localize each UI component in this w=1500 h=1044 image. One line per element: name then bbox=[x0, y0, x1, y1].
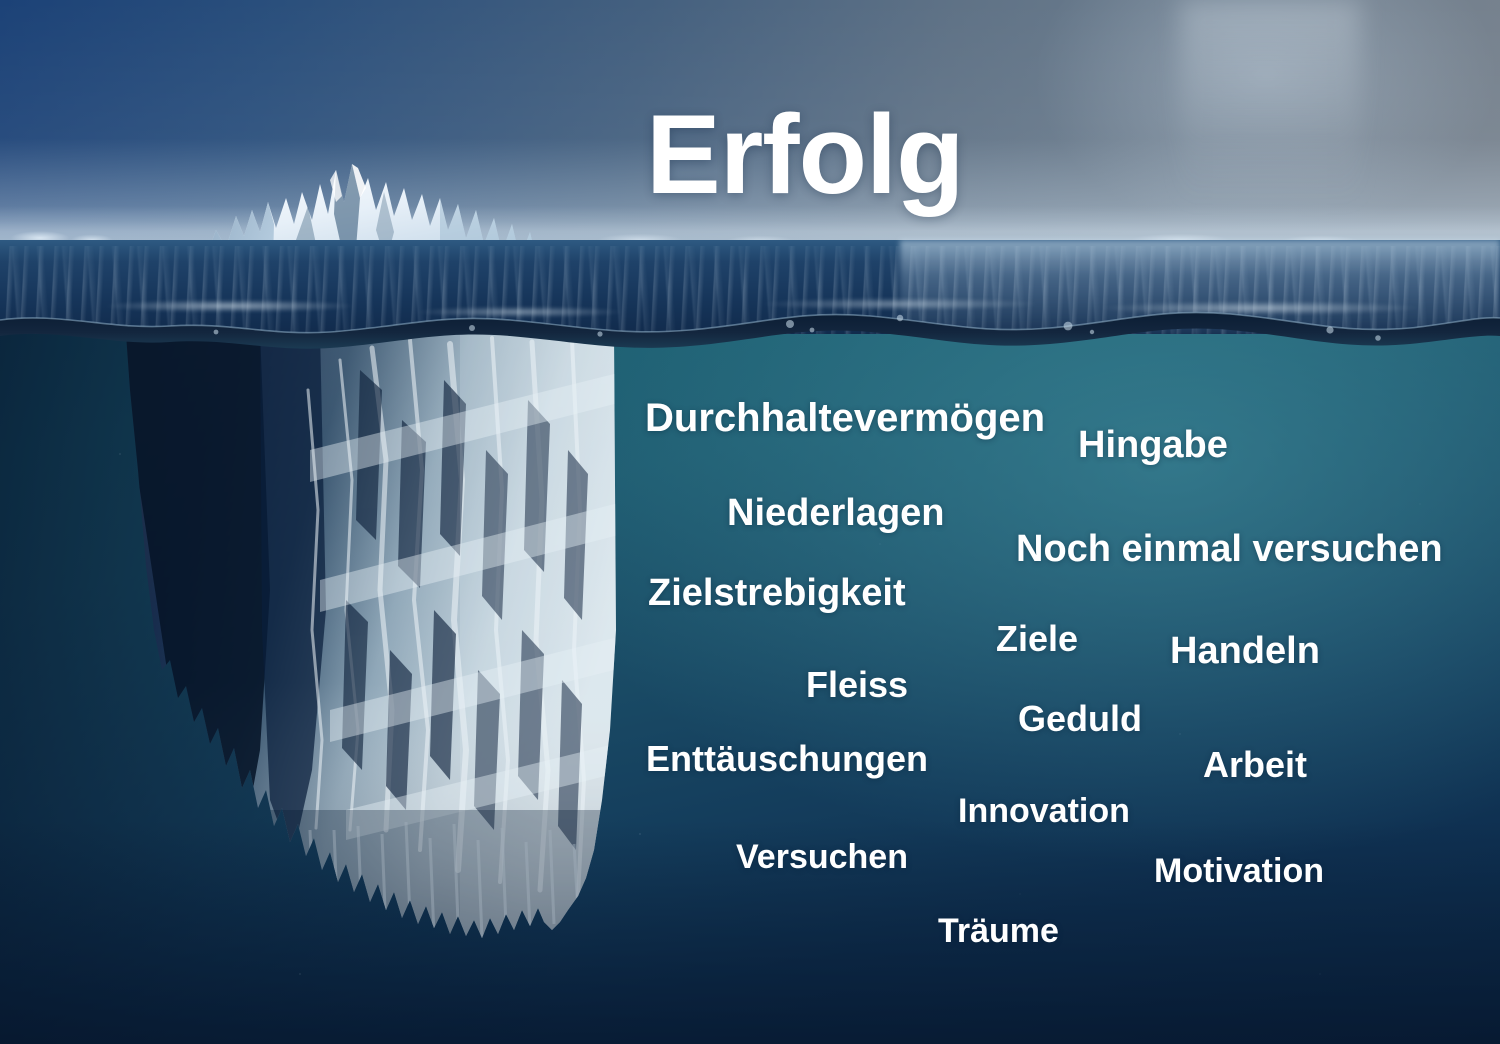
word-cloud-item: Motivation bbox=[1154, 852, 1324, 891]
word-cloud-item: Enttäuschungen bbox=[646, 738, 928, 780]
word-cloud-item: Träume bbox=[938, 912, 1059, 951]
word-cloud-item: Geduld bbox=[1018, 698, 1142, 740]
page-title: Erfolg bbox=[646, 96, 964, 214]
word-cloud-item: Versuchen bbox=[736, 838, 908, 877]
waterline bbox=[0, 300, 1500, 360]
word-cloud-item: Innovation bbox=[958, 792, 1130, 831]
word-cloud-item: Zielstrebigkeit bbox=[648, 572, 906, 615]
word-cloud-item: Handeln bbox=[1170, 630, 1320, 673]
sky-light-streak bbox=[1180, 0, 1360, 210]
word-cloud-item: Niederlagen bbox=[727, 492, 945, 535]
word-cloud-item: Durchhaltevermögen bbox=[645, 396, 1045, 441]
iceberg-below-water bbox=[110, 330, 630, 970]
word-cloud-item: Arbeit bbox=[1203, 744, 1307, 786]
word-cloud-item: Hingabe bbox=[1078, 424, 1228, 467]
word-cloud-item: Noch einmal versuchen bbox=[1016, 528, 1443, 571]
iceberg-success-poster: Erfolg DurchhaltevermögenHingabeNiederla… bbox=[0, 0, 1500, 1044]
word-cloud-item: Fleiss bbox=[806, 664, 908, 706]
word-cloud-item: Ziele bbox=[996, 618, 1078, 660]
